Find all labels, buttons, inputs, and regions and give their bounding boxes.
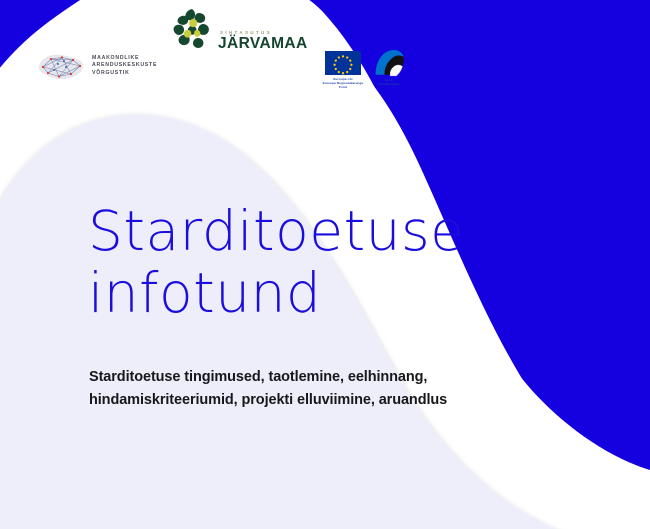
logo-eu-caption: Euroopa Liit Euroopa Regionaalarengu Fon… — [322, 77, 364, 89]
logo-eu-caption-line-2: Euroopa Regionaalarengu Fond — [322, 81, 364, 89]
logo-estonia-caption-line-2: tuleviku heaks — [368, 82, 410, 86]
european-union-flag-icon — [325, 51, 361, 75]
logo-maakondlike-arenduskeskuste-vorgustik: MAAKONDLIKE ARENDUSKESKUSTE VÕRGUSTIK — [36, 49, 157, 83]
logo-estonia: Eesti tuleviku heaks — [368, 49, 410, 86]
logo-estonia-caption: Eesti tuleviku heaks — [368, 78, 410, 86]
presentation-slide: MAAKONDLIKE ARENDUSKESKUSTE VÕRGUSTIK — [0, 0, 650, 529]
slide-title: Starditoetuse infotund — [88, 200, 558, 324]
logo-jarvamaa-wordmark: SIHTASUTUS JÄRVAMAA — [218, 30, 308, 52]
logo-european-union: Euroopa Liit Euroopa Regionaalarengu Fon… — [322, 51, 364, 89]
logo-mak-wordmark: MAAKONDLIKE ARENDUSKESKUSTE VÕRGUSTIK — [92, 55, 157, 77]
estonia-flag-swoosh-icon — [373, 49, 405, 77]
slide-content: Starditoetuse infotund Starditoetuse tin… — [88, 200, 558, 412]
slide-subtitle: Starditoetuse tingimused, taotlemine, ee… — [89, 366, 558, 412]
logo-mak-line-3: VÕRGUSTIK — [92, 70, 157, 77]
jarvamaa-leaf-cluster-icon — [170, 8, 216, 52]
logo-bar: MAAKONDLIKE ARENDUSKESKUSTE VÕRGUSTIK — [0, 0, 650, 110]
logo-jarvamaa-name: JÄRVAMAA — [218, 36, 308, 51]
estonia-network-map-icon — [36, 49, 86, 83]
logo-mak-line-1: MAAKONDLIKE — [92, 55, 157, 62]
logo-mak-line-2: ARENDUSKESKUSTE — [92, 62, 157, 69]
logo-sihtasutus-jarvamaa: SIHTASUTUS JÄRVAMAA — [170, 8, 308, 52]
